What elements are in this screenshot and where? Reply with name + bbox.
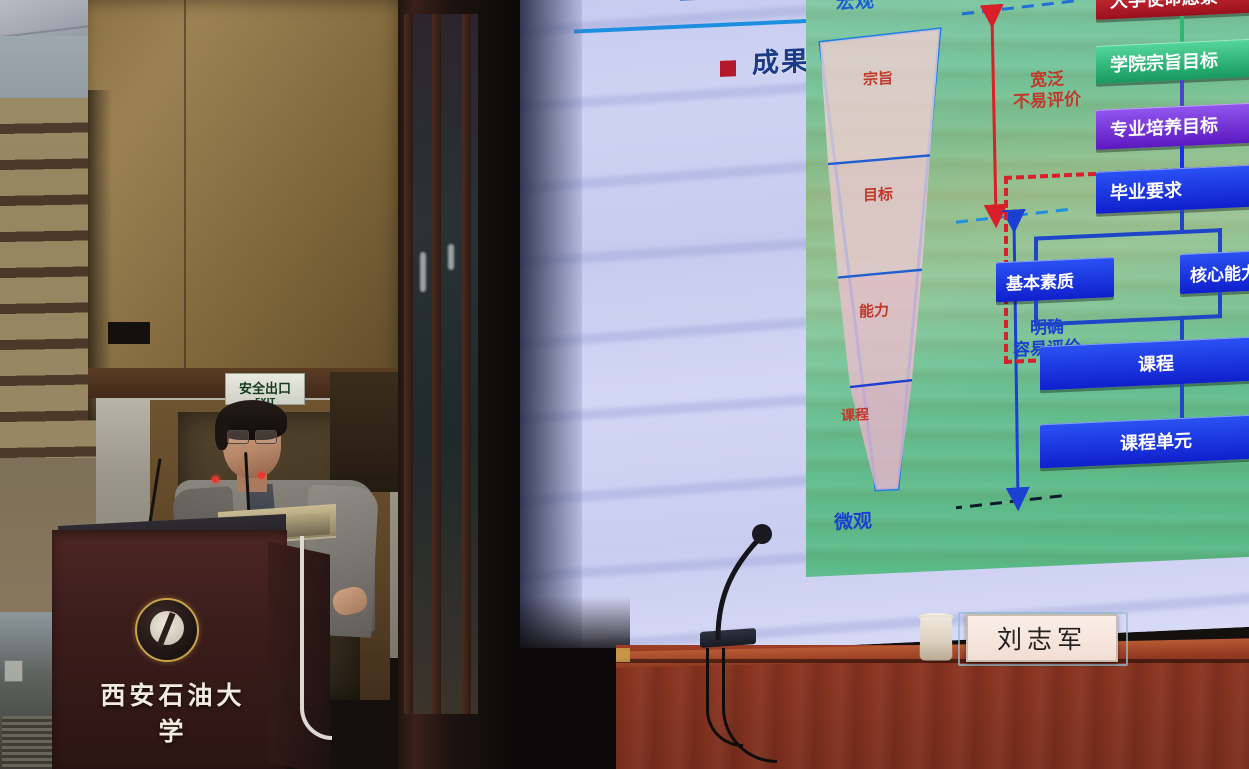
podium-cable (300, 536, 332, 740)
outcome-box-tree: 大学使命愿景 学院宗旨目标 专业培养目标 毕业要求 基本素质 核心能力 (1072, 0, 1249, 565)
glasses-icon (227, 430, 277, 442)
wood-wall-panel (88, 0, 406, 420)
column-mullion (404, 14, 413, 714)
box-university-mission[interactable]: 大学使命愿景 (1096, 0, 1249, 20)
glass-glint (420, 252, 426, 292)
evaluation-framework-diagram: 宏观 微观 宗旨 目标 能力 (806, 0, 1249, 577)
box-basic-quality[interactable]: 基本素质 (996, 257, 1114, 302)
box-college-mission[interactable]: 学院宗旨目标 (1096, 37, 1249, 84)
striped-wall-panel (0, 98, 96, 458)
mic-indicator-light (212, 476, 219, 483)
projection-screen: 成果评价框架图 宏观 微观 (520, 0, 1249, 660)
glass-glint (448, 244, 454, 270)
title-bullet-icon (720, 60, 736, 77)
stage-shadow (520, 648, 618, 769)
university-emblem-icon (135, 598, 199, 662)
podium-institution-name: 西安石油大学 (88, 676, 258, 748)
paper-cup (920, 617, 953, 661)
box-graduation-requirements[interactable]: 毕业要求 (1096, 163, 1249, 214)
screen-left-shadow (520, 0, 582, 660)
micro-label: 微观 (834, 506, 872, 535)
wall-fixture (108, 322, 150, 344)
nameplate: 刘志军 (966, 614, 1118, 662)
exit-sign-label: 安全出口 (239, 383, 291, 396)
box-core-competence[interactable]: 核心能力 (1180, 249, 1249, 294)
box-course[interactable]: 课程 (1040, 336, 1249, 391)
lecture-hall-photo: 安全出口 EXIT 成果评价框架图 宏观 (0, 0, 1249, 769)
funnel-shape: 宗旨 目标 能力 课程 (812, 6, 962, 505)
table-corner-cap (616, 648, 630, 662)
gooseneck-microphone-icon (700, 500, 810, 640)
box-program-objectives[interactable]: 专业培养目标 (1096, 101, 1249, 150)
nameplate-text: 刘志军 (997, 620, 1087, 656)
screen-surface: 成果评价框架图 宏观 微观 (520, 0, 1249, 660)
column-mullion (462, 14, 471, 714)
mic-indicator-light (258, 472, 265, 479)
box-course-unit[interactable]: 课程单元 (1040, 414, 1249, 469)
column-mullion (432, 14, 441, 714)
wall-socket (4, 660, 23, 682)
